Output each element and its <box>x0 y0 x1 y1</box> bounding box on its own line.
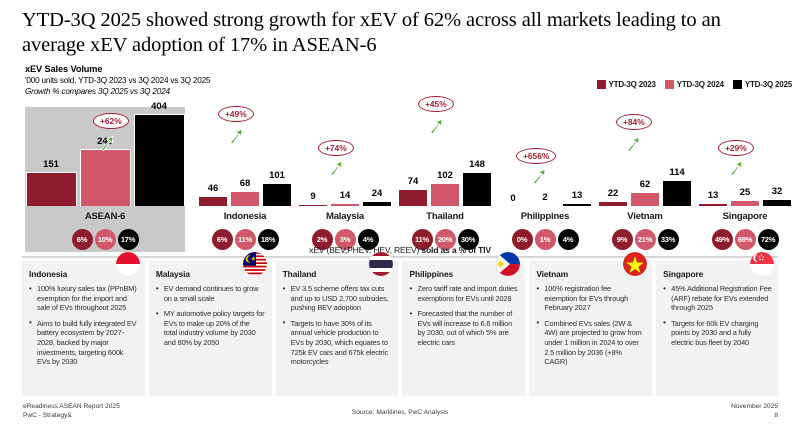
bar-vietnam-ytd-3q-2024[interactable] <box>630 192 660 206</box>
bar-value-label: 24 <box>362 188 392 200</box>
bar-value-label: 74 <box>398 176 428 188</box>
card-bullet: 45% Additional Registration Fee (ARF) re… <box>663 284 772 313</box>
bar-asean-6-ytd-3q-2025[interactable] <box>134 114 185 206</box>
legend-item: YTD-3Q 2025 <box>733 80 792 89</box>
bar-value-label: 102 <box>430 170 460 182</box>
bar-thailand-ytd-3q-2025[interactable] <box>462 172 492 206</box>
bar-group: 4668101 <box>196 108 294 206</box>
country-card-vietnam: Vietnam100% registration fee exemption f… <box>529 261 652 396</box>
bar-value-label: 114 <box>662 167 692 179</box>
card-bullet-list: 100% registration fee exemption for EVs … <box>536 284 645 367</box>
chart-legend: YTD-3Q 2023YTD-3Q 2024YTD-3Q 2025 <box>597 80 792 89</box>
bar-column[interactable]: 74 <box>398 188 428 206</box>
page-title: YTD-3Q 2025 showed strong growth for xEV… <box>22 8 782 58</box>
growth-up-arrow-icon <box>729 160 743 176</box>
country-cards: Indonesia100% luxury sales tax (PPnBM) e… <box>22 261 779 396</box>
bar-column[interactable]: 13 <box>562 202 592 206</box>
bar-column[interactable]: 32 <box>762 198 792 206</box>
bar-value-label: 404 <box>134 101 185 113</box>
growth-up-arrow-icon <box>329 160 343 176</box>
card-bullet: Targets to have 30% of its annual vehicl… <box>283 319 392 367</box>
card-bullet-list: Zero tariff rate and import duties exemp… <box>409 284 518 348</box>
bar-value-label: 0 <box>498 193 528 205</box>
category-label: Singapore <box>696 211 794 222</box>
card-bullet: MY automotive policy targets for EVs to … <box>156 309 265 347</box>
category-label: Thailand <box>396 211 494 222</box>
bar-thailand-ytd-3q-2024[interactable] <box>430 183 460 206</box>
card-bullet-list: 45% Additional Registration Fee (ARF) re… <box>663 284 772 348</box>
bar-column[interactable]: 13 <box>698 202 728 206</box>
bar-column[interactable]: 24 <box>362 200 392 206</box>
card-bullet: Forecasted that the number of EVs will i… <box>409 309 518 347</box>
card-bullet: EV 3.5 scheme offers tax cuts and up to … <box>283 284 392 313</box>
bar-column[interactable]: 148 <box>462 171 492 206</box>
chart-group-malaysia: 91424Malaysia2%3%4%+74% <box>296 100 394 252</box>
footer-date: November 2025 <box>731 403 778 412</box>
category-label: Malaysia <box>296 211 394 222</box>
chart-group-thailand: 74102148Thailand11%20%30%+45% <box>396 100 494 252</box>
country-card-singapore: Singapore45% Additional Registration Fee… <box>656 261 779 396</box>
growth-up-arrow-icon <box>229 128 243 144</box>
card-bullet: EV demand continues to grow on a small s… <box>156 284 265 303</box>
bar-column[interactable]: 102 <box>430 182 460 206</box>
bar-column[interactable]: 2 <box>530 204 560 207</box>
bar-value-label: 14 <box>330 190 360 202</box>
card-bullet: 100% luxury sales tax (PPnBM) exemption … <box>29 284 138 313</box>
indonesia-flag <box>116 252 140 276</box>
chart-group-singapore: 132532Singapore49%69%72%+29% <box>696 100 794 252</box>
category-label: Vietnam <box>596 211 694 222</box>
bar-chart-plot: 151249404ASEAN-66%10%17%+62%4668101Indon… <box>0 100 800 252</box>
bar-singapore-ytd-3q-2023[interactable] <box>698 203 728 206</box>
bar-column[interactable]: 0 <box>498 205 528 206</box>
bar-group: 74102148 <box>396 108 494 206</box>
bar-indonesia-ytd-3q-2024[interactable] <box>230 191 260 206</box>
bar-value-label: 13 <box>698 190 728 202</box>
bar-column[interactable]: 62 <box>630 191 660 206</box>
card-bullet: Aims to build fully integrated EV batter… <box>29 319 138 367</box>
country-card-philippines: PhilippinesZero tariff rate and import d… <box>402 261 525 396</box>
card-bullet: Zero tariff rate and import duties exemp… <box>409 284 518 303</box>
legend-swatch-icon <box>733 80 742 89</box>
bar-value-label: 151 <box>26 159 77 171</box>
card-bullet: 100% registration fee exemption for EVs … <box>536 284 645 313</box>
bar-value-label: 22 <box>598 188 628 200</box>
category-label: Indonesia <box>196 211 294 222</box>
country-card-thailand: ThailandEV 3.5 scheme offers tax cuts an… <box>276 261 399 396</box>
chart-group-philippines: 0213Philippines0%1%4%+656% <box>496 100 594 252</box>
bar-malaysia-ytd-3q-2024[interactable] <box>330 203 360 206</box>
bar-value-label: 32 <box>762 186 792 198</box>
footer-page-number: 8 <box>731 412 778 421</box>
legend-swatch-icon <box>665 80 674 89</box>
bar-singapore-ytd-3q-2025[interactable] <box>762 199 792 206</box>
bar-vietnam-ytd-3q-2023[interactable] <box>598 201 628 206</box>
card-bullet-list: 100% luxury sales tax (PPnBM) exemption … <box>29 284 138 367</box>
bar-group: 132532 <box>696 108 794 206</box>
card-bullet-list: EV 3.5 scheme offers tax cuts and up to … <box>283 284 392 367</box>
growth-callout: +62% <box>93 113 129 129</box>
category-label: ASEAN-6 <box>25 211 185 222</box>
footer-right: November 2025 8 <box>731 403 778 420</box>
category-label: Philippines <box>496 211 594 222</box>
bar-value-label: 2 <box>530 192 560 204</box>
bar-malaysia-ytd-3q-2025[interactable] <box>362 201 392 206</box>
bar-value-label: 148 <box>462 159 492 171</box>
chart-subtitle: '000 units sold, YTD-3Q 2023 vs 3Q 2024 … <box>25 76 210 85</box>
bar-column[interactable]: 151 <box>26 171 77 206</box>
legend-item: YTD-3Q 2023 <box>597 80 656 89</box>
bar-column[interactable]: 25 <box>730 199 760 206</box>
growth-up-arrow-icon <box>626 136 640 152</box>
growth-callout: +74% <box>318 140 354 156</box>
country-card-indonesia: Indonesia100% luxury sales tax (PPnBM) e… <box>22 261 145 396</box>
legend-label: YTD-3Q 2025 <box>745 80 792 89</box>
axis-caption-part1: xEV (BEV,PHEV, HEV, REEV) <box>309 245 419 255</box>
vietnam-flag <box>623 252 647 276</box>
bar-value-label: 101 <box>262 170 292 182</box>
footer-source: Source: Marklines, PwC Analysis <box>0 409 800 416</box>
legend-label: YTD-3Q 2024 <box>677 80 724 89</box>
bar-vietnam-ytd-3q-2025[interactable] <box>662 180 692 206</box>
bar-column[interactable]: 9 <box>298 203 328 206</box>
growth-up-arrow-icon <box>532 168 546 184</box>
legend-swatch-icon <box>597 80 606 89</box>
bar-value-label: 13 <box>562 190 592 202</box>
chart-note: Growth % compares 3Q 2025 vs 3Q 2024 <box>25 87 210 96</box>
card-bullet: Targets for 60k EV charging points by 20… <box>663 319 772 348</box>
bar-column[interactable]: 68 <box>230 190 260 206</box>
malaysia-flag <box>243 252 267 276</box>
singapore-flag <box>750 252 774 276</box>
bar-column[interactable]: 46 <box>198 195 228 206</box>
card-bullet-list: EV demand continues to grow on a small s… <box>156 284 265 348</box>
bar-value-label: 46 <box>198 183 228 195</box>
bar-column[interactable]: 249 <box>80 148 131 206</box>
country-card-malaysia: MalaysiaEV demand continues to grow on a… <box>149 261 272 396</box>
chart-header: xEV Sales Volume '000 units sold, YTD-3Q… <box>25 64 210 96</box>
bar-asean-6-ytd-3q-2023[interactable] <box>26 172 77 206</box>
bar-column[interactable]: 404 <box>134 113 185 206</box>
card-bullet: Combined EVs sales (2W & 4W) are project… <box>536 319 645 367</box>
growth-callout: +29% <box>718 140 754 156</box>
axis-caption-part2: sold as a % of TIV <box>421 245 490 255</box>
bar-value-label: 9 <box>298 191 328 203</box>
bar-indonesia-ytd-3q-2023[interactable] <box>198 196 228 206</box>
chart-group-indonesia: 4668101Indonesia6%11%18%+49% <box>196 100 294 252</box>
bar-philippines-ytd-3q-2024[interactable] <box>530 205 560 207</box>
bar-asean-6-ytd-3q-2024[interactable] <box>80 149 131 206</box>
bar-value-label: 25 <box>730 187 760 199</box>
growth-up-arrow-icon <box>429 118 443 134</box>
bar-value-label: 62 <box>630 179 660 191</box>
growth-up-arrow-icon <box>100 135 114 151</box>
bar-philippines-ytd-3q-2025[interactable] <box>562 203 592 206</box>
bar-value-label: 68 <box>230 178 260 190</box>
legend-label: YTD-3Q 2023 <box>609 80 656 89</box>
bar-column[interactable]: 101 <box>262 182 292 206</box>
growth-callout: +84% <box>616 114 652 130</box>
chart-group-vietnam: 2262114Vietnam9%21%33%+84% <box>596 100 694 252</box>
growth-callout: +656% <box>516 148 556 164</box>
bar-group: 91424 <box>296 108 394 206</box>
growth-callout: +45% <box>418 96 454 112</box>
bar-indonesia-ytd-3q-2025[interactable] <box>262 183 292 206</box>
growth-callout: +49% <box>218 106 254 122</box>
chart-group-asean-6: 151249404ASEAN-66%10%17%+62% <box>25 107 185 252</box>
bar-column[interactable]: 22 <box>598 200 628 206</box>
bar-singapore-ytd-3q-2024[interactable] <box>730 200 760 206</box>
bar-column[interactable]: 14 <box>330 202 360 206</box>
bar-thailand-ytd-3q-2023[interactable] <box>398 189 428 206</box>
legend-item: YTD-3Q 2024 <box>665 80 724 89</box>
bar-malaysia-ytd-3q-2023[interactable] <box>298 204 328 206</box>
bar-column[interactable]: 114 <box>662 179 692 206</box>
chart-title: xEV Sales Volume <box>25 64 210 74</box>
